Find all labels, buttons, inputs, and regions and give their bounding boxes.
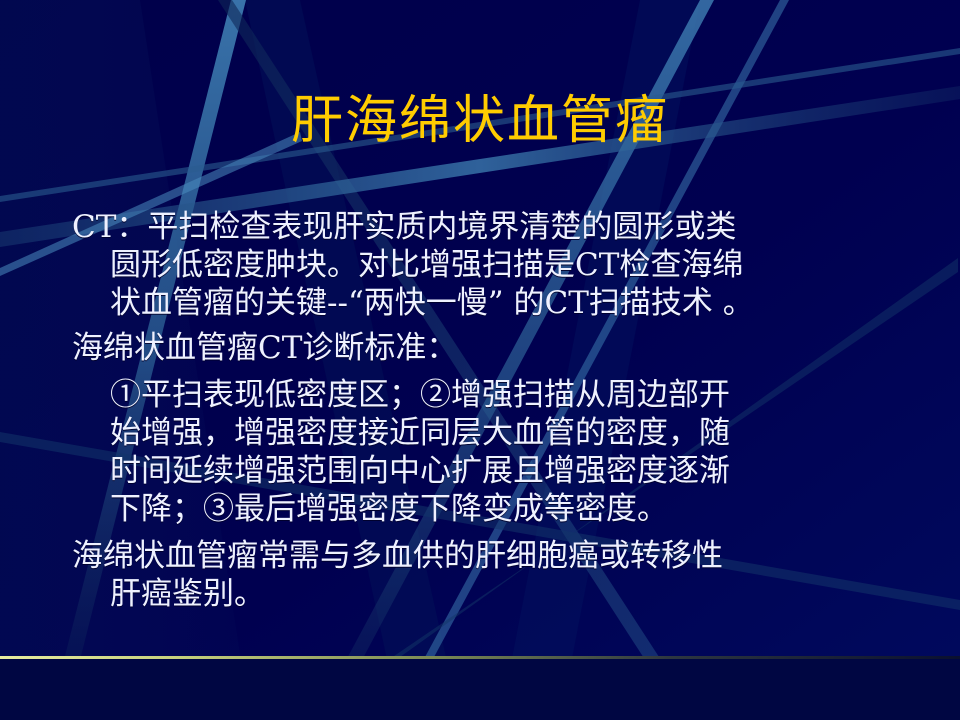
paragraph-3-line-2: 始增强，增强密度接近同层大血管的密度，随: [72, 414, 952, 452]
footer-band: [0, 658, 960, 720]
paragraph-3-line-4: 下降；③最后增强密度下降变成等密度。: [72, 490, 952, 528]
slide-body: CT：平扫检查表现肝实质内境界清楚的圆形或类 圆形低密度肿块。对比增强扫描是CT…: [72, 208, 952, 613]
paragraph-1-line-3: 状血管瘤的关键--“两快一慢” 的CT扫描技术 。: [72, 284, 952, 322]
body-paragraph-3: ①平扫表现低密度区；②增强扫描从周边部开 始增强，增强密度接近同层大血管的密度，…: [72, 376, 952, 528]
paragraph-2-line-1: 海绵状血管瘤CT诊断标准：: [72, 329, 952, 367]
paragraph-3-line-3: 时间延续增强范围向中心扩展且增强密度逐渐: [72, 452, 952, 490]
paragraph-4-line-2: 肝癌鉴别。: [72, 575, 952, 613]
paragraph-1-line-2: 圆形低密度肿块。对比增强扫描是CT检查海绵: [72, 246, 952, 284]
body-paragraph-1: CT：平扫检查表现肝实质内境界清楚的圆形或类 圆形低密度肿块。对比增强扫描是CT…: [72, 208, 952, 322]
paragraph-4-line-1: 海绵状血管瘤常需与多血供的肝细胞癌或转移性: [72, 537, 952, 575]
presentation-slide: 肝海绵状血管瘤 CT：平扫检查表现肝实质内境界清楚的圆形或类 圆形低密度肿块。对…: [0, 0, 960, 720]
paragraph-3-line-1: ①平扫表现低密度区；②增强扫描从周边部开: [72, 376, 952, 414]
slide-title: 肝海绵状血管瘤: [0, 92, 960, 150]
body-paragraph-4: 海绵状血管瘤常需与多血供的肝细胞癌或转移性 肝癌鉴别。: [72, 537, 952, 613]
footer-divider-line: [0, 656, 960, 659]
body-paragraph-2: 海绵状血管瘤CT诊断标准：: [72, 329, 952, 367]
paragraph-1-line-1: CT：平扫检查表现肝实质内境界清楚的圆形或类: [72, 208, 952, 246]
